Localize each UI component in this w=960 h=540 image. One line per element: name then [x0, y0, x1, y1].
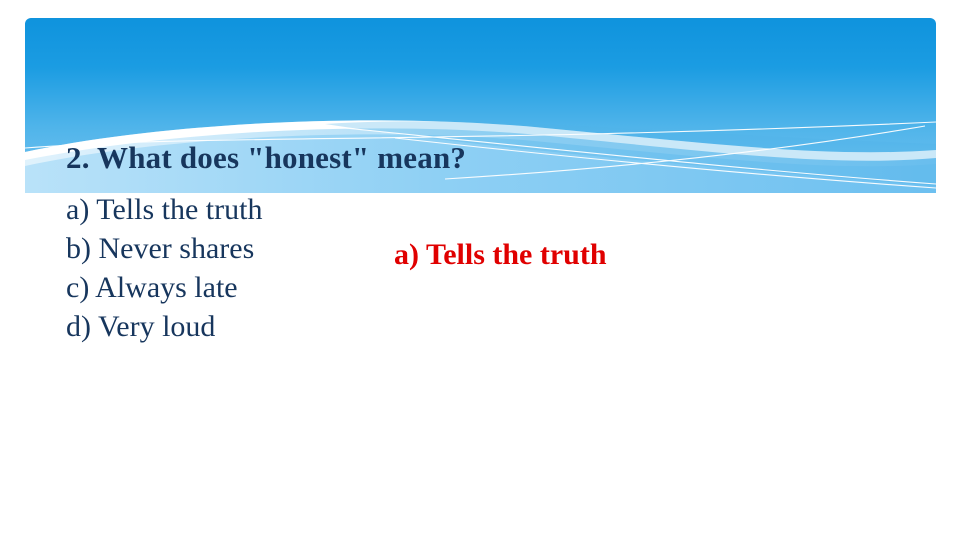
option-item-d: d) Very loud [66, 307, 406, 346]
options-list: a) Tells the truth b) Never shares c) Al… [66, 190, 406, 346]
option-item-b: b) Never shares [66, 229, 406, 268]
option-item-c: c) Always late [66, 268, 406, 307]
slide-canvas: 2. What does "honest" mean? a) Tells the… [0, 0, 960, 540]
option-item-a: a) Tells the truth [66, 190, 406, 229]
accent-line-crossing [445, 126, 925, 179]
question-heading: 2. What does "honest" mean? [66, 142, 466, 173]
accent-line-descending [395, 138, 936, 188]
correct-answer-text: a) Tells the truth [394, 240, 607, 270]
